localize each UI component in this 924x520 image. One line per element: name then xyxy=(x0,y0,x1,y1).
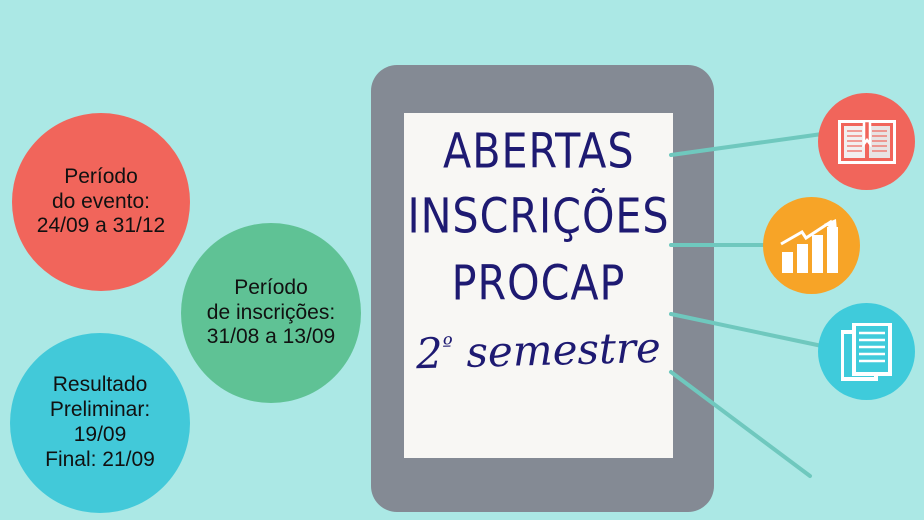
bubble-results-text: Resultado Preliminar: 19/09 Final: 21/09 xyxy=(45,373,155,472)
headline-line-procap: PROCAP xyxy=(452,260,626,308)
icon-circle-book xyxy=(818,93,915,190)
growth-chart-icon xyxy=(780,219,844,273)
headline-line-abertas: ABERTAS xyxy=(443,128,635,176)
documents-icon xyxy=(841,323,893,381)
bubble-registration-period-text: Período de inscrições: 31/08 a 13/09 xyxy=(207,276,335,350)
bubble-registration-period: Período de inscrições: 31/08 a 13/09 xyxy=(181,223,361,403)
headline-line-semester: 2º semestre xyxy=(416,327,662,375)
open-book-icon xyxy=(838,120,896,164)
poster-headline-block: ABERTAS INSCRIÇÕES PROCAP 2º semestre xyxy=(404,113,673,458)
semester-ordinal-mark: º xyxy=(442,333,453,358)
bubble-event-period-text: Período do evento: 24/09 a 31/12 xyxy=(37,165,165,239)
bubble-event-period: Período do evento: 24/09 a 31/12 xyxy=(12,113,190,291)
semester-number: 2 xyxy=(415,329,443,379)
icon-circle-growth xyxy=(763,197,860,294)
infographic-poster: Período do evento: 24/09 a 31/12 Período… xyxy=(0,0,924,520)
icon-circle-docs xyxy=(818,303,915,400)
semester-word: semestre xyxy=(466,323,662,377)
headline-line-inscricoes: INSCRIÇÕES xyxy=(407,193,669,241)
bubble-results: Resultado Preliminar: 19/09 Final: 21/09 xyxy=(10,333,190,513)
